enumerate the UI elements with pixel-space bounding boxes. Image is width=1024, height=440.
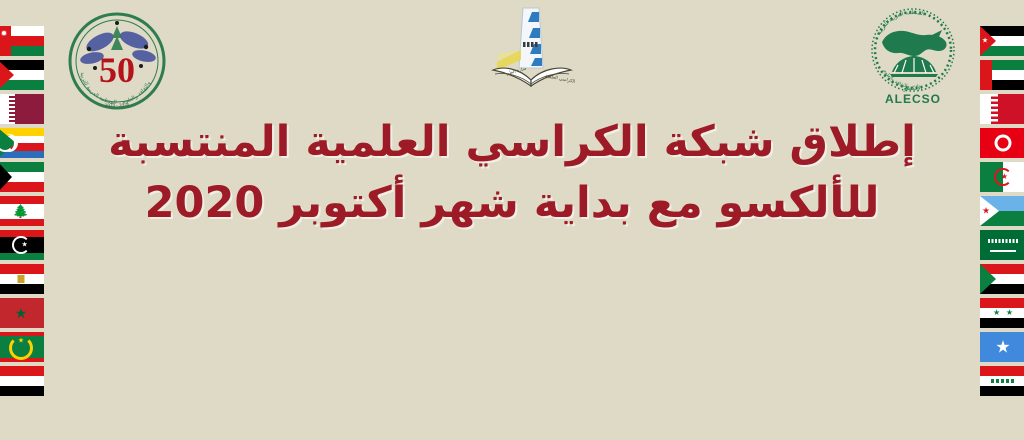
headline-line-2: للألكسو مع بداية شهر أكتوبر 2020	[60, 173, 964, 234]
flag-column-left: ✹	[0, 0, 46, 440]
announcement-banner: ✹	[0, 0, 1024, 440]
flag-algeria: ★	[980, 162, 1024, 192]
page-title: إطلاق شبكة الكراسي العلمية المنتسبة للأل…	[60, 112, 964, 234]
svg-text:50: 50	[99, 50, 135, 90]
flag-palestine	[0, 60, 44, 90]
flag-comoros	[0, 128, 44, 158]
flag-egypt	[0, 264, 44, 294]
takbir-text	[991, 379, 1015, 383]
flag-mauritania: ★	[0, 332, 44, 362]
flag-column-right: ★ ★ ★ ★	[978, 0, 1024, 440]
flag-syria: ★ ★	[980, 298, 1024, 328]
flag-jordan: ★	[980, 26, 1024, 56]
flag-somalia: ★	[980, 332, 1024, 362]
svg-text:الألكسو: الألكسو	[903, 84, 923, 92]
flag-qatar	[0, 94, 44, 124]
headline-line-1: إطلاق شبكة الكراسي العلمية المنتسبة	[60, 112, 964, 173]
flag-tunisia: ★	[980, 128, 1024, 158]
flag-sudan	[980, 264, 1024, 294]
flag-yemen	[0, 366, 44, 396]
cedar-icon: 🌲	[13, 205, 29, 218]
flag-libya: ★	[0, 230, 44, 260]
flag-djibouti: ★	[980, 196, 1024, 226]
alecso-logo-caption: ALECSO	[860, 92, 966, 106]
flag-oman: ✹	[0, 26, 44, 56]
sword-icon	[990, 250, 1016, 252]
flag-bahrain	[980, 94, 1024, 124]
flag-saudi-arabia	[980, 230, 1024, 260]
svg-text:1970 - 2020: 1970 - 2020	[105, 103, 130, 108]
flag-morocco: ★	[0, 298, 44, 328]
flag-lebanon: 🌲	[0, 196, 44, 226]
anniversary-50-logo: 50 المنظمة العربية للتربية والثقافة والع…	[62, 6, 172, 116]
flag-iraq	[980, 366, 1024, 396]
flag-kuwait	[0, 162, 44, 192]
eagle-of-saladin-icon	[18, 275, 25, 283]
svg-text:الكراسي العلمية: الكراسي العلمية	[545, 73, 576, 85]
flag-united-arab-emirates	[980, 60, 1024, 90]
lighthouse-book-logo: منارة العلم الكراسي العلمية	[483, 2, 579, 102]
alecso-logo: المنظمة العربية للتربية والثقافة والعلوم…	[860, 6, 966, 110]
shahada-text	[988, 239, 1018, 243]
